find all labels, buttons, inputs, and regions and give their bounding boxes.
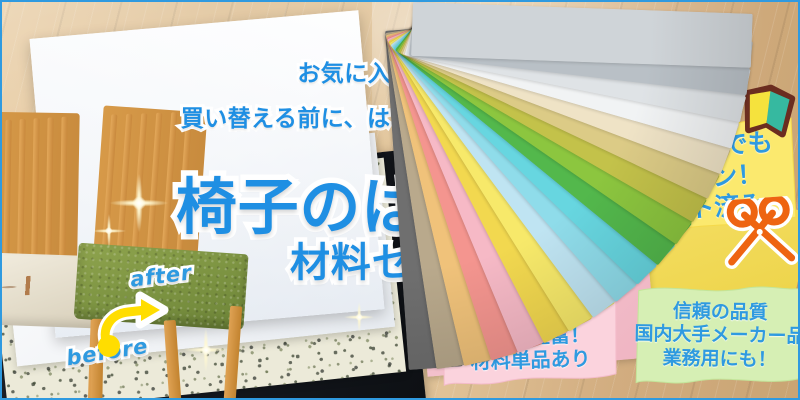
shoshinsha-mark-icon [739,81,797,141]
badge-quality: 信頼の品質 国内大手メーカー品 業務用にも！ [633,283,800,390]
badge-quality-text: 信頼の品質 国内大手メーカー品 業務用にも！ [633,283,800,390]
badge-quality-line-3: 業務用にも！ [662,347,776,372]
promo-banner: お気に入りのいす、 買い替える前に、はりかえてみませんか？ 椅子のはりかえ 材料… [0,0,800,400]
badge-quality-line-2: 国内大手メーカー品 [634,323,800,349]
before-after-arrow-icon [94,290,174,360]
badge-quality-line-1: 信頼の品質 [673,300,768,325]
scissors-icon [717,195,800,276]
